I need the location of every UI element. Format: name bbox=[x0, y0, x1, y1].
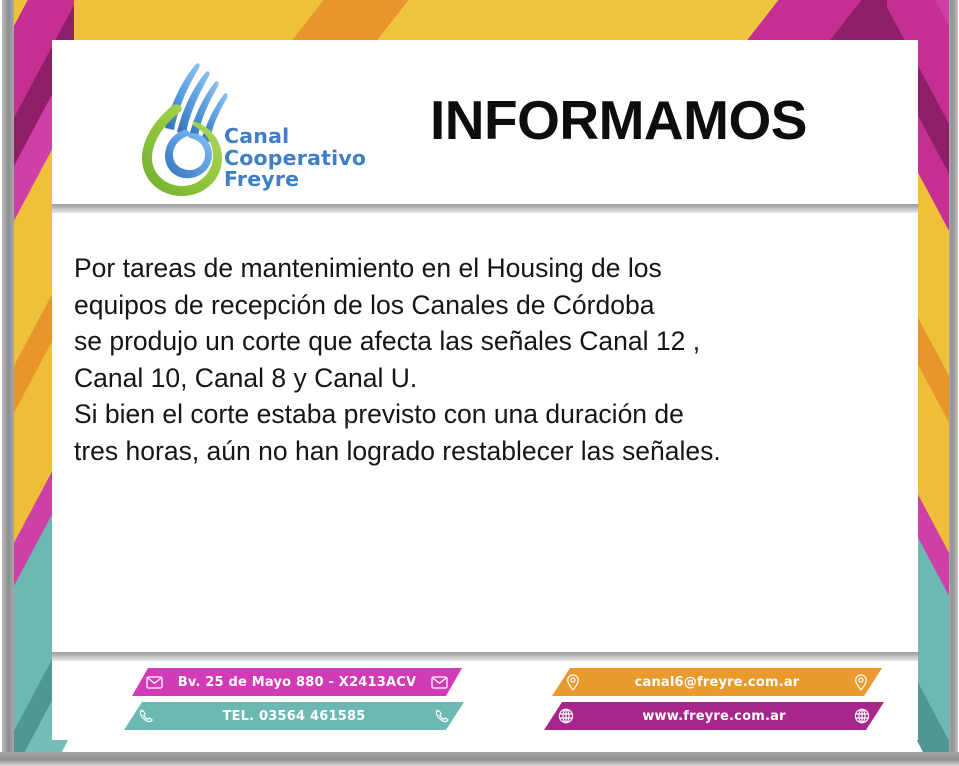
contact-badge-label: TEL. 03564 461585 bbox=[223, 709, 366, 724]
globe-icon bbox=[854, 708, 870, 724]
globe-icon bbox=[558, 708, 574, 724]
envelope-icon bbox=[431, 676, 448, 689]
announcement-line: se produjo un corte que afecta las señal… bbox=[74, 323, 904, 360]
contact-badge-address[interactable]: Bv. 25 de Mayo 880 - X2413ACV bbox=[132, 668, 462, 696]
frame-edge-left bbox=[0, 0, 14, 766]
contact-badge-phone[interactable]: TEL. 03564 461585 bbox=[124, 702, 464, 730]
contact-badge-email[interactable]: canal6@freyre.com.ar bbox=[552, 668, 882, 696]
contact-footer: Bv. 25 de Mayo 880 - X2413ACV TEL. 03564… bbox=[52, 666, 918, 736]
location-pin-icon bbox=[566, 674, 580, 691]
announcement-body: Por tareas de mantenimiento en el Housin… bbox=[74, 250, 904, 469]
contact-badge-label: www.freyre.com.ar bbox=[642, 709, 785, 724]
announcement-line: Por tareas de mantenimiento en el Housin… bbox=[74, 250, 904, 287]
announcement-line: Canal 10, Canal 8 y Canal U. bbox=[74, 360, 904, 397]
poster-header: Canal Cooperativo Freyre INFORMAMOS bbox=[52, 40, 918, 202]
header-divider bbox=[52, 204, 918, 213]
announcement-line: tres horas, aún no han logrado restablec… bbox=[74, 433, 904, 470]
contact-badge-label: Bv. 25 de Mayo 880 - X2413ACV bbox=[178, 675, 417, 690]
envelope-icon bbox=[146, 676, 163, 689]
frame-edge-bottom bbox=[0, 752, 959, 766]
brand-logo-text: Canal Cooperativo Freyre bbox=[224, 126, 366, 191]
frame-edge-right bbox=[949, 0, 959, 766]
phone-icon bbox=[138, 708, 154, 724]
location-pin-icon bbox=[854, 674, 868, 691]
page-title: INFORMAMOS bbox=[430, 88, 900, 152]
brand-line-3: Freyre bbox=[224, 169, 366, 191]
informamos-poster: Canal Cooperativo Freyre INFORMAMOS Por … bbox=[0, 0, 959, 766]
phone-icon bbox=[434, 708, 450, 724]
poster-card: Canal Cooperativo Freyre INFORMAMOS Por … bbox=[52, 40, 918, 740]
contact-badge-label: canal6@freyre.com.ar bbox=[635, 675, 800, 690]
footer-divider bbox=[52, 652, 918, 661]
brand-line-1: Canal bbox=[224, 126, 366, 148]
brand-line-2: Cooperativo bbox=[224, 148, 366, 170]
brand-logo: Canal Cooperativo Freyre bbox=[124, 46, 434, 198]
announcement-line: equipos de recepción de los Canales de C… bbox=[74, 287, 904, 324]
contact-badge-website[interactable]: www.freyre.com.ar bbox=[544, 702, 884, 730]
announcement-line: Si bien el corte estaba previsto con una… bbox=[74, 396, 904, 433]
